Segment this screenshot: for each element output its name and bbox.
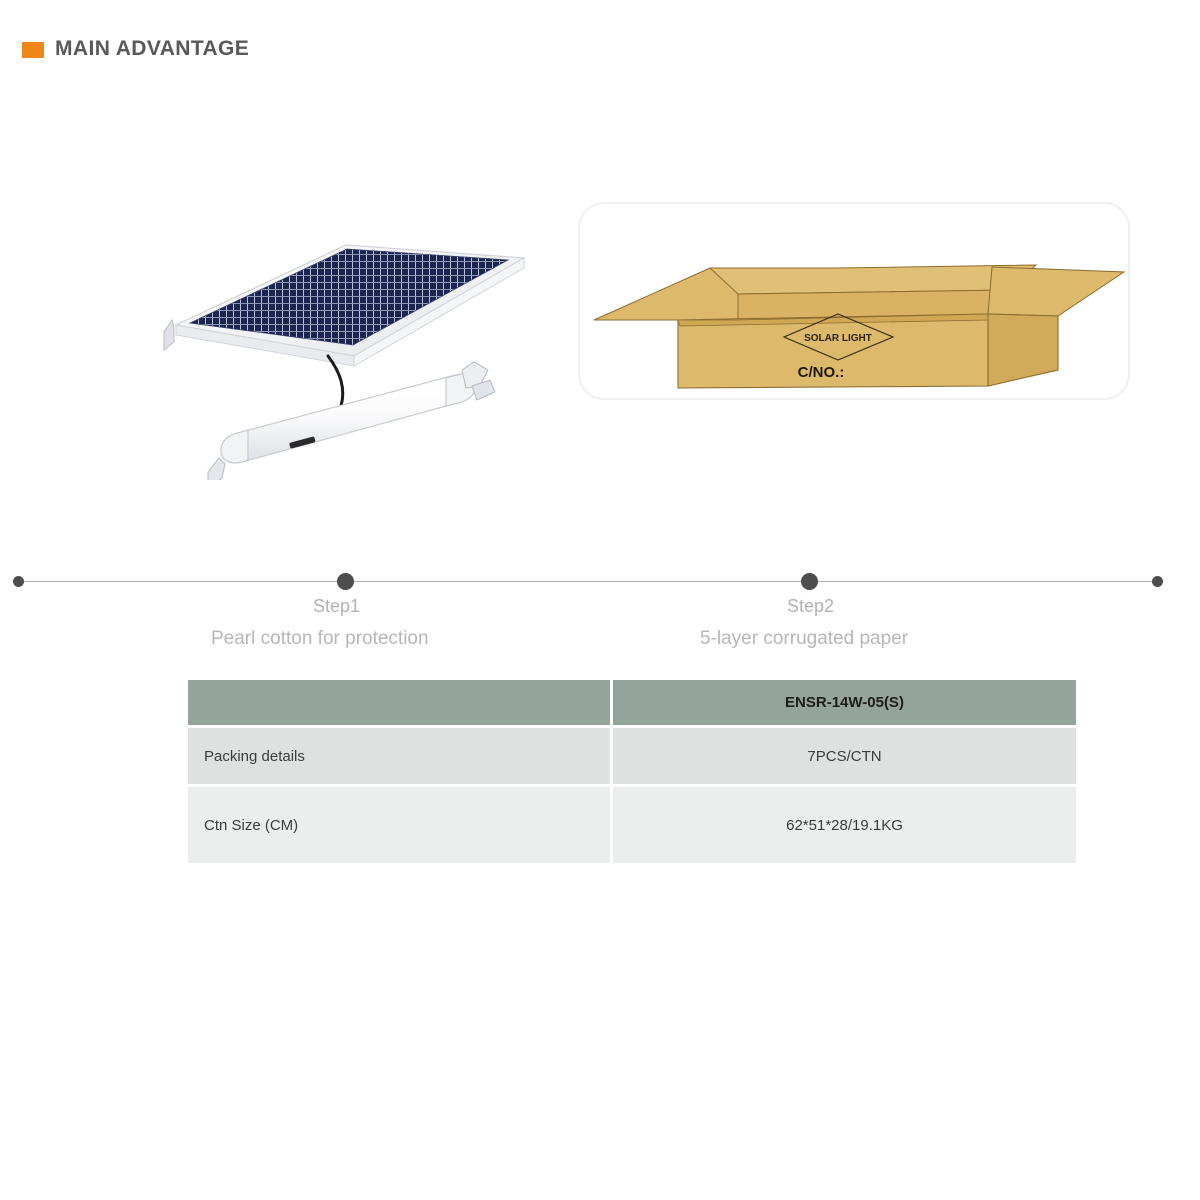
panel-bracket-left <box>164 320 174 350</box>
carton-inner-back <box>710 265 1036 294</box>
table-row: Packing details 7PCS/CTN <box>188 728 1076 784</box>
section-marker-icon <box>22 42 44 58</box>
carton-cno-label: C/NO.: <box>798 364 845 381</box>
tube-light-body <box>221 374 475 463</box>
table-header-cell-blank <box>188 680 610 725</box>
timeline-label-step2: Step2 <box>787 596 834 617</box>
carton-diamond-label: SOLAR LIGHT <box>804 333 872 344</box>
table-header-cell-model: ENSR-14W-05(S) <box>613 680 1076 725</box>
timeline-label-step1: Step1 <box>313 596 360 617</box>
table-row: Ctn Size (CM) 62*51*28/19.1KG <box>188 787 1076 863</box>
table-cell-value-packing-details: 7PCS/CTN <box>613 728 1076 784</box>
solar-light-illustration-svg <box>150 220 550 480</box>
figure-caption-pearl-cotton: Pearl cotton for protection <box>211 628 429 650</box>
solar-light-product-figure <box>150 220 550 480</box>
carton-box-figure: SOLAR LIGHT C/NO.: <box>588 210 1128 395</box>
carton-flap-right <box>988 267 1124 316</box>
timeline-line <box>18 581 1158 582</box>
timeline-dot-end <box>1152 576 1163 587</box>
table-cell-value-ctn-size: 62*51*28/19.1KG <box>613 787 1076 863</box>
page-title: MAIN ADVANTAGE <box>55 37 249 61</box>
page-header: MAIN ADVANTAGE <box>0 0 1200 92</box>
timeline-dot-start <box>13 576 24 587</box>
step-timeline: Step1 Step2 <box>0 560 1200 630</box>
tube-endcap-left <box>221 430 248 463</box>
table-header-row: ENSR-14W-05(S) <box>188 680 1076 725</box>
timeline-dot-step2[interactable] <box>801 573 818 590</box>
table-cell-label-ctn-size: Ctn Size (CM) <box>188 787 610 863</box>
timeline-dot-step1[interactable] <box>337 573 354 590</box>
figure-caption-corrugated-paper: 5-layer corrugated paper <box>700 628 908 650</box>
packing-spec-table: ENSR-14W-05(S) Packing details 7PCS/CTN … <box>185 677 1079 866</box>
table-cell-label-packing-details: Packing details <box>188 728 610 784</box>
tube-bracket-left <box>208 458 225 480</box>
carton-box-illustration-svg: SOLAR LIGHT C/NO.: <box>588 210 1128 395</box>
carton-side-face <box>988 314 1058 386</box>
